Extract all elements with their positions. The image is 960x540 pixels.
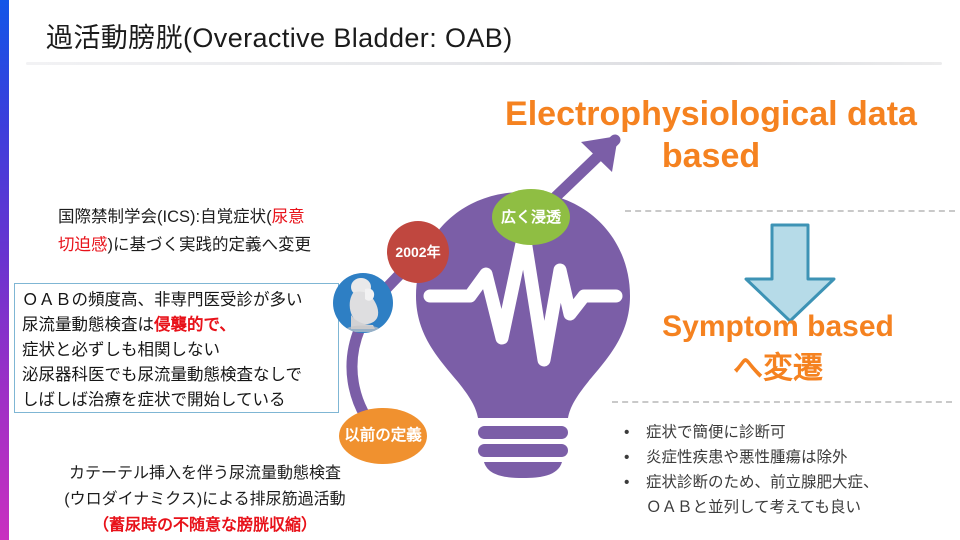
oab-rationale-box: ＯＡＢの頻度高、非専門医受診が多い 尿流量動態検査は侵襲的で、 症状と必ずしも相… [14, 283, 339, 413]
catheter-line-3-highlight: （蓄尿時の不随意な膀胱収縮） [93, 517, 317, 534]
headline-line-1: Electrophysiological data [505, 95, 917, 133]
dashed-divider-bottom [612, 401, 952, 403]
bullet-marker-2: • [624, 445, 629, 470]
bullet-marker-3: • [624, 470, 629, 495]
symptom-line-2: へ変遷 [733, 352, 823, 385]
thinking-statue-icon [333, 273, 393, 333]
thinking-statue-figure [341, 277, 385, 332]
oab-line-2-highlight: 侵襲的で、 [154, 316, 236, 334]
headline-line-2: based [662, 137, 760, 175]
badge-previous-definition: 以前の定義 [339, 408, 427, 464]
ics-line2-suffix: )に基づく実践的定義へ変更 [108, 236, 312, 254]
page-title: 過活動膀胱(Overactive Bladder: OAB) [46, 16, 513, 55]
headline-symptom-based: Symptom based へ変遷 [600, 306, 956, 390]
ics-line1-prefix: 国際禁制学会(ICS):自覚症状( [58, 208, 272, 226]
headline-electrophysiological: Electrophysiological data based [470, 93, 952, 177]
oab-line-4: 泌尿器科医でも尿流量動態検査なしで [22, 366, 302, 384]
oab-line-1: ＯＡＢの頻度高、非専門医受診が多い [22, 291, 303, 309]
bullet-text-3-continued: ＯＡＢと並列して考えても良い [646, 495, 950, 520]
ics-line2-highlight: 切迫感 [58, 236, 108, 254]
badge-widely-spread: 広く浸透 [492, 189, 570, 245]
bullet-text-1: 症状で簡便に診断可 [646, 424, 786, 441]
slide-canvas: 過活動膀胱(Overactive Bladder: OAB) 国際禁制学会(IC… [0, 0, 960, 540]
oab-line-2-prefix: 尿流量動態検査は [22, 316, 154, 334]
symptom-line-1: Symptom based [662, 310, 894, 343]
symptom-bullet-list: • 症状で簡便に診断可 • 炎症性疾患や悪性腫瘍は除外 • 症状診断のため、前立… [620, 420, 950, 520]
list-item: • 炎症性疾患や悪性腫瘍は除外 [620, 445, 950, 470]
oab-line-3: 症状と必ずしも相関しない [22, 341, 220, 359]
badge-year-2002: 2002年 [387, 221, 449, 283]
bullet-marker-1: • [624, 420, 629, 445]
dashed-divider-top [625, 210, 955, 212]
title-divider [26, 62, 942, 65]
oab-rationale-text: ＯＡＢの頻度高、非専門医受診が多い 尿流量動態検査は侵襲的で、 症状と必ずしも相… [22, 288, 342, 413]
oab-line-5: しばしば治療を症状で開始している [22, 391, 286, 409]
list-item: • 症状で簡便に診断可 [620, 420, 950, 445]
list-item: • 症状診断のため、前立腺肥大症、 ＯＡＢと並列して考えても良い [620, 470, 950, 520]
left-accent-bar [0, 0, 9, 540]
bullet-text-2: 炎症性疾患や悪性腫瘍は除外 [646, 449, 848, 466]
bullet-text-3: 症状診断のため、前立腺肥大症、 [646, 474, 879, 491]
